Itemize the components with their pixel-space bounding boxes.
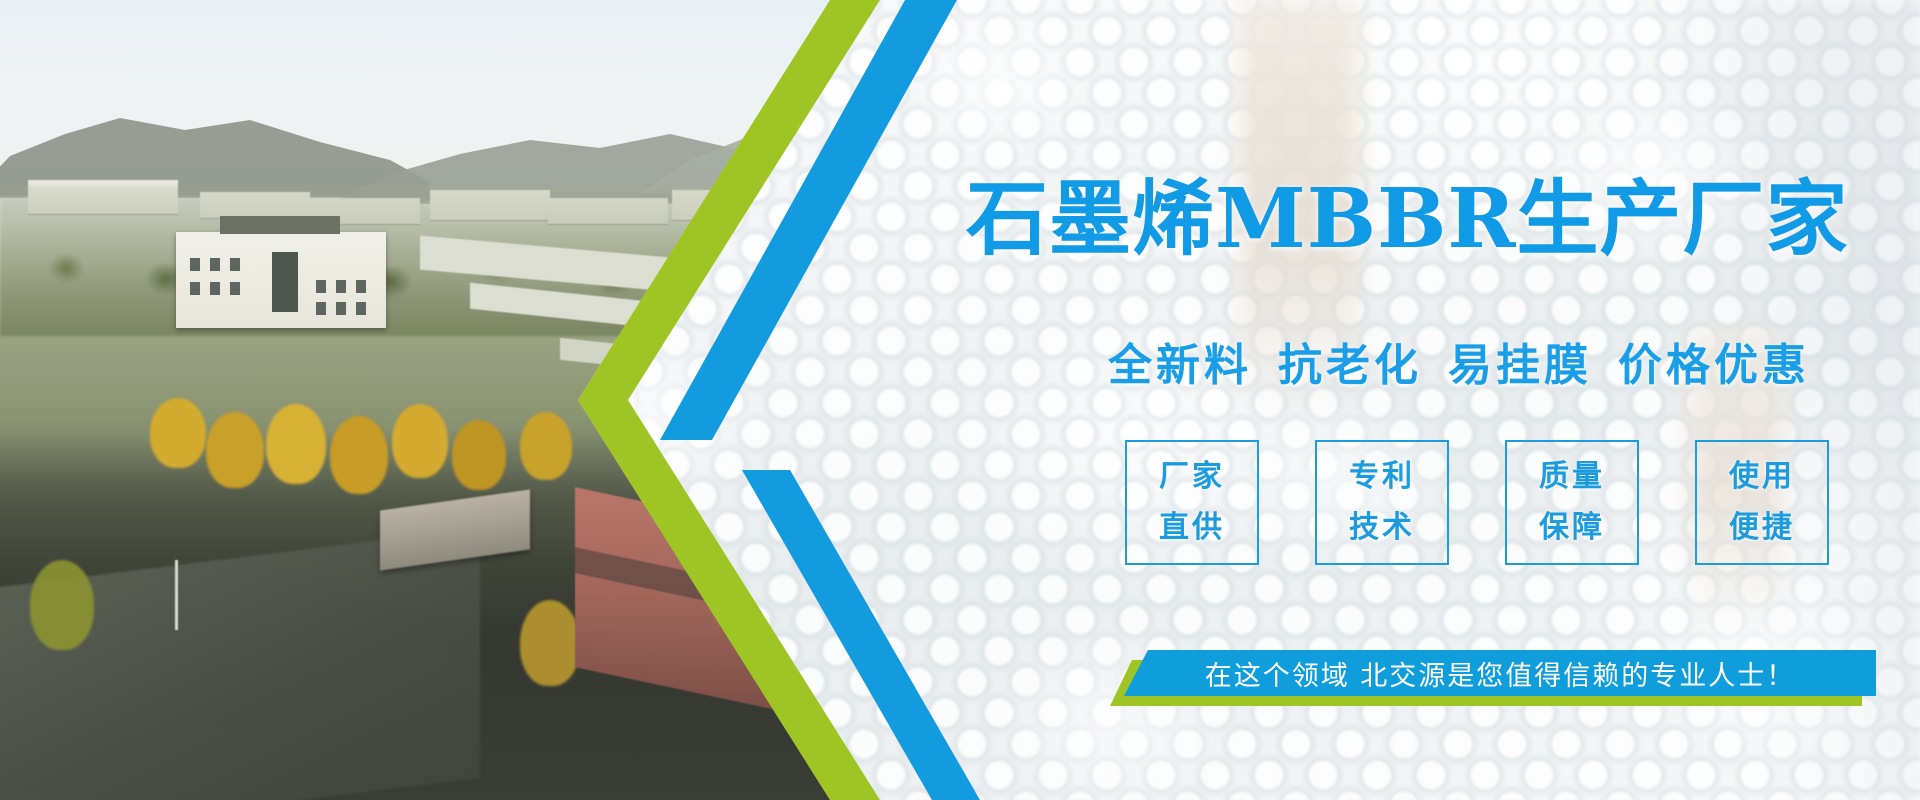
autumn-tree xyxy=(30,560,94,650)
autumn-tree xyxy=(520,412,572,480)
autumn-tree xyxy=(206,412,264,488)
autumn-tree xyxy=(150,398,206,468)
feature-line-2: 保障 xyxy=(1539,513,1605,543)
flagpole xyxy=(175,560,178,630)
feature-box-quality-assurance[interactable]: 质量 保障 xyxy=(1505,440,1639,565)
autumn-tree xyxy=(330,416,388,494)
feature-line-2: 直供 xyxy=(1159,513,1225,543)
window xyxy=(336,302,346,315)
autumn-tree xyxy=(452,420,506,490)
subtitle-item-2: 抗老化 xyxy=(1278,341,1422,390)
office-roof xyxy=(220,216,340,234)
feature-box-patented-technology[interactable]: 专利 技术 xyxy=(1315,440,1449,565)
window xyxy=(210,282,220,295)
window xyxy=(316,280,326,293)
feature-line-2: 技术 xyxy=(1349,513,1415,543)
promo-banner: 石墨烯MBBR生产厂家 全新料抗老化易挂膜价格优惠 厂家 直供 专利 技术 质量… xyxy=(0,0,1920,800)
feature-line-1: 使用 xyxy=(1729,462,1795,492)
window xyxy=(316,302,326,315)
feature-line-1: 厂家 xyxy=(1159,462,1225,492)
office-building xyxy=(176,232,386,328)
window xyxy=(190,258,200,271)
feature-box-row: 厂家 直供 专利 技术 质量 保障 使用 便捷 xyxy=(1125,440,1829,565)
window xyxy=(336,280,346,293)
headline: 石墨烯MBBR生产厂家 xyxy=(966,178,1849,260)
autumn-tree xyxy=(392,404,448,478)
feature-box-manufacturer-direct[interactable]: 厂家 直供 xyxy=(1125,440,1259,565)
tagline-ribbon: 在这个领域 北交源是您值得信赖的专业人士！ xyxy=(1110,650,1900,712)
window xyxy=(210,258,220,271)
subtitle-row: 全新料抗老化易挂膜价格优惠 xyxy=(1108,344,1810,388)
window xyxy=(230,282,240,295)
autumn-tree xyxy=(520,600,580,686)
window xyxy=(190,282,200,295)
window xyxy=(356,302,366,315)
subtitle-item-3: 易挂膜 xyxy=(1448,341,1592,390)
entrance-glass xyxy=(272,252,298,312)
feature-box-easy-to-use[interactable]: 使用 便捷 xyxy=(1695,440,1829,565)
subtitle-item-4: 价格优惠 xyxy=(1618,341,1810,390)
subtitle-item-1: 全新料 xyxy=(1108,341,1252,390)
feature-line-1: 专利 xyxy=(1349,462,1415,492)
feature-line-2: 便捷 xyxy=(1729,513,1795,543)
autumn-tree xyxy=(266,404,326,484)
window xyxy=(356,280,366,293)
tagline-text: 在这个领域 北交源是您值得信赖的专业人士！ xyxy=(1124,650,1876,696)
feature-line-1: 质量 xyxy=(1539,462,1605,492)
window xyxy=(230,258,240,271)
